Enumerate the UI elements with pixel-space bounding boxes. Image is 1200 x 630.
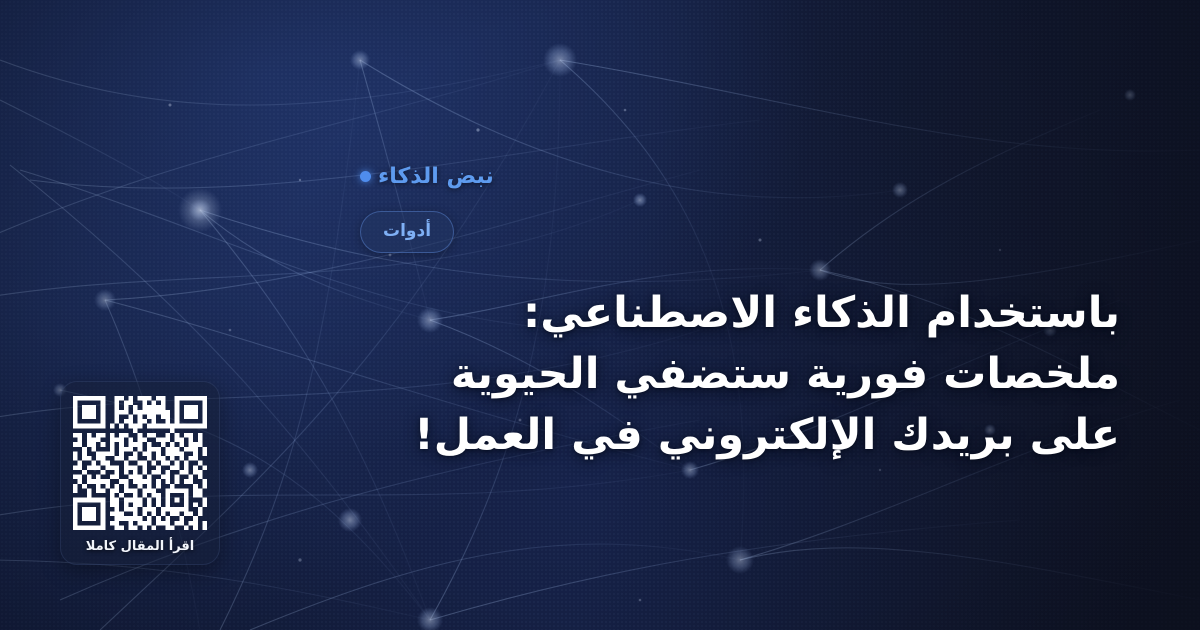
brand-dot-icon bbox=[360, 171, 371, 182]
page-title: باستخدام الذكاء الاصطناعي: ملخصات فورية … bbox=[360, 283, 1120, 466]
qr-caption: اقرأ المقال كاملا bbox=[86, 539, 195, 554]
qr-card[interactable]: اقرأ المقال كاملا bbox=[60, 381, 220, 565]
content-block: نبض الذكاء أدوات باستخدام الذكاء الاصطنا… bbox=[360, 0, 1140, 630]
share-card: اقرأ المقال كاملا نبض الذكاء أدوات باستخ… bbox=[0, 0, 1200, 630]
category-badge[interactable]: أدوات bbox=[360, 211, 454, 253]
qr-code-icon bbox=[73, 396, 207, 530]
brand-name: نبض الذكاء bbox=[378, 164, 494, 189]
brand-lockup[interactable]: نبض الذكاء bbox=[360, 164, 494, 189]
